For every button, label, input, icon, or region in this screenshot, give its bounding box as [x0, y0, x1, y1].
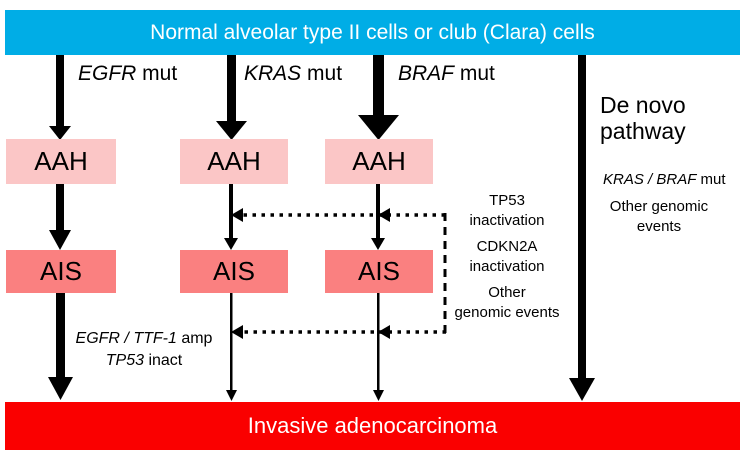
mutation-suffix-kras: mut: [301, 62, 342, 85]
gene-name-kras: KRAS: [244, 62, 301, 85]
middle-event-gene-tp53: TP53: [489, 192, 525, 209]
mutation-label-kras: KRAS mut: [244, 62, 342, 86]
arrow-top-to-aah-3: [358, 55, 399, 140]
dotted-arrow-lower: [231, 325, 446, 339]
gene-name-braf: BRAF: [398, 62, 454, 85]
middle-event-type-tp53: inactivation: [469, 212, 544, 229]
gene-name-kras-denovo: KRAS: [603, 171, 644, 188]
normal-cells-bar: Normal alveolar type II cells or club (C…: [5, 10, 740, 55]
gene-name-egfr-amp: EGFR: [76, 330, 120, 347]
normal-cells-label: Normal alveolar type II cells or club (C…: [150, 21, 595, 45]
middle-event-tp53: TP53 inactivation: [452, 191, 562, 230]
mutation-label-braf: BRAF mut: [398, 62, 495, 86]
mutation-suffix-braf: mut: [454, 62, 495, 85]
lesion-box-aah-2: AAH: [180, 139, 288, 184]
middle-genomic-events-list: TP53 inactivation CDKN2A inactivation Ot…: [452, 191, 562, 322]
lesion-box-ais-3: AIS: [325, 250, 433, 293]
middle-event-other: Other genomic events: [452, 283, 562, 322]
pathway-diagram: Normal alveolar type II cells or club (C…: [0, 0, 746, 458]
amp-suffix: amp: [177, 330, 213, 347]
dotted-arrow-upper: [231, 208, 445, 222]
lesion-label: AAH: [207, 146, 260, 177]
lesion-box-ais-2: AIS: [180, 250, 288, 293]
gene-name-tp53-inact: TP53: [106, 352, 144, 369]
middle-event-gene-other: Other: [488, 284, 526, 301]
arrow-top-to-aah-2: [216, 55, 247, 140]
gene-separator: /: [120, 330, 133, 347]
arrow-de-novo-pathway: [569, 55, 595, 401]
middle-event-type-other: genomic events: [454, 304, 559, 321]
lesion-box-aah-1: AAH: [6, 139, 116, 184]
invasive-adenocarcinoma-bar: Invasive adenocarcinoma: [5, 402, 740, 450]
arrow-top-to-aah-1: [49, 55, 71, 140]
mutation-label-egfr: EGFR mut: [78, 62, 177, 86]
middle-event-gene-cdkn2a: CDKN2A: [477, 238, 538, 255]
lesion-label: AIS: [358, 256, 400, 287]
de-novo-pathway-title: De novo pathway: [600, 92, 730, 145]
gene-name-egfr: EGFR: [78, 62, 136, 85]
gene-name-braf-denovo: BRAF: [656, 171, 696, 188]
mutation-suffix-denovo: mut: [696, 171, 725, 188]
middle-event-type-cdkn2a: inactivation: [469, 258, 544, 275]
lesion-label: AAH: [34, 146, 87, 177]
de-novo-pathway-genes: KRAS / BRAF mut: [603, 172, 726, 189]
lesion-box-aah-3: AAH: [325, 139, 433, 184]
invasive-adenocarcinoma-label: Invasive adenocarcinoma: [248, 413, 497, 439]
mutation-suffix-egfr: mut: [136, 62, 177, 85]
arrow-ais-to-invasive-2: [226, 293, 237, 401]
lesion-label: AIS: [213, 256, 255, 287]
gene-name-ttf1: TTF-1: [133, 330, 177, 347]
middle-event-cdkn2a: CDKN2A inactivation: [452, 237, 562, 276]
column1-progression-events: EGFR / TTF-1 amp TP53 inact: [64, 328, 224, 373]
inact-suffix: inact: [144, 352, 182, 369]
lesion-label: AAH: [352, 146, 405, 177]
dotted-arrow-lower-branch: [378, 325, 390, 339]
gene-separator-denovo: /: [644, 171, 657, 188]
de-novo-other-events: Other genomic events: [603, 197, 715, 238]
arrow-ais-to-invasive-3: [373, 293, 384, 401]
lesion-label: AIS: [40, 256, 82, 287]
arrow-aah-to-ais-1: [49, 184, 71, 250]
lesion-box-ais-1: AIS: [6, 250, 116, 293]
